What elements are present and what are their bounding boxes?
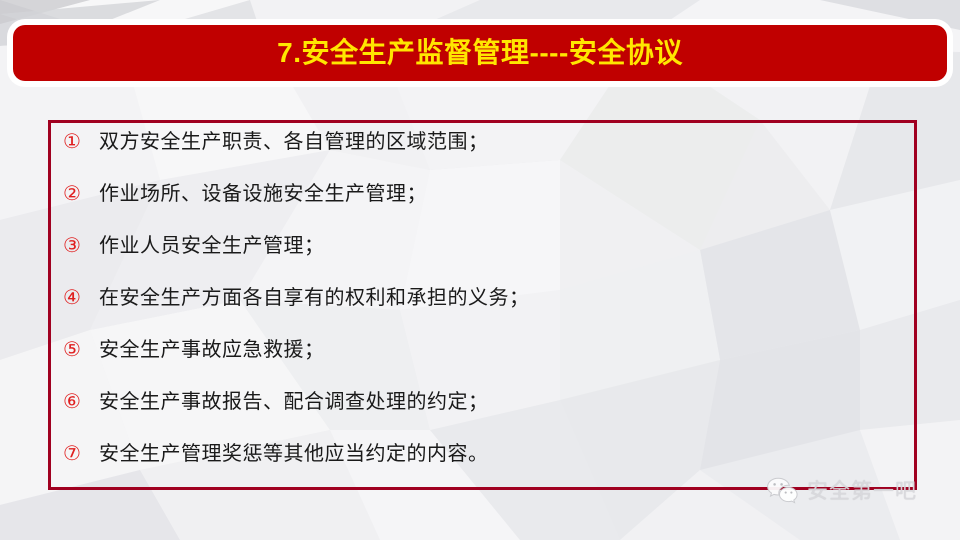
list-item-marker: ④ bbox=[63, 287, 99, 307]
content-box: ① 双方安全生产职责、各自管理的区域范围； ② 作业场所、设备设施安全生产管理；… bbox=[48, 120, 917, 490]
list-item-label: 作业场所、设备设施安全生产管理； bbox=[99, 184, 427, 204]
list-item: ④ 在安全生产方面各自享有的权利和承担的义务； bbox=[51, 287, 914, 339]
list-item-marker: ⑦ bbox=[63, 443, 99, 463]
list-item-marker: ⑥ bbox=[63, 391, 99, 411]
list-item-label: 双方安全生产职责、各自管理的区域范围； bbox=[99, 132, 489, 152]
list-item-label: 安全生产事故报告、配合调查处理的约定； bbox=[99, 392, 489, 412]
list-item-marker: ⑤ bbox=[63, 339, 99, 359]
list-item-marker: ③ bbox=[63, 235, 99, 255]
watermark-label: 安全第一吧 bbox=[807, 481, 917, 502]
list-item-marker: ① bbox=[63, 131, 99, 151]
slide-title-banner: 7.安全生产监督管理----安全协议 bbox=[13, 25, 947, 81]
watermark: 安全第一吧 bbox=[766, 476, 917, 506]
list-item: ⑥ 安全生产事故报告、配合调查处理的约定； bbox=[51, 391, 914, 443]
list-item: ③ 作业人员安全生产管理； bbox=[51, 235, 914, 287]
page-title: 7.安全生产监督管理----安全协议 bbox=[277, 39, 683, 67]
list-item-marker: ② bbox=[63, 183, 99, 203]
agreement-list: ① 双方安全生产职责、各自管理的区域范围； ② 作业场所、设备设施安全生产管理；… bbox=[51, 131, 914, 495]
list-item-label: 安全生产管理奖惩等其他应当约定的内容。 bbox=[99, 444, 489, 464]
wechat-icon bbox=[766, 476, 800, 506]
list-item: ⑤ 安全生产事故应急救援； bbox=[51, 339, 914, 391]
list-item: ① 双方安全生产职责、各自管理的区域范围； bbox=[51, 131, 914, 183]
list-item: ② 作业场所、设备设施安全生产管理； bbox=[51, 183, 914, 235]
list-item-label: 作业人员安全生产管理； bbox=[99, 236, 325, 256]
list-item-label: 在安全生产方面各自享有的权利和承担的义务； bbox=[99, 288, 530, 308]
list-item-label: 安全生产事故应急救援； bbox=[99, 340, 325, 360]
slide-canvas: 7.安全生产监督管理----安全协议 ① 双方安全生产职责、各自管理的区域范围；… bbox=[0, 0, 960, 540]
